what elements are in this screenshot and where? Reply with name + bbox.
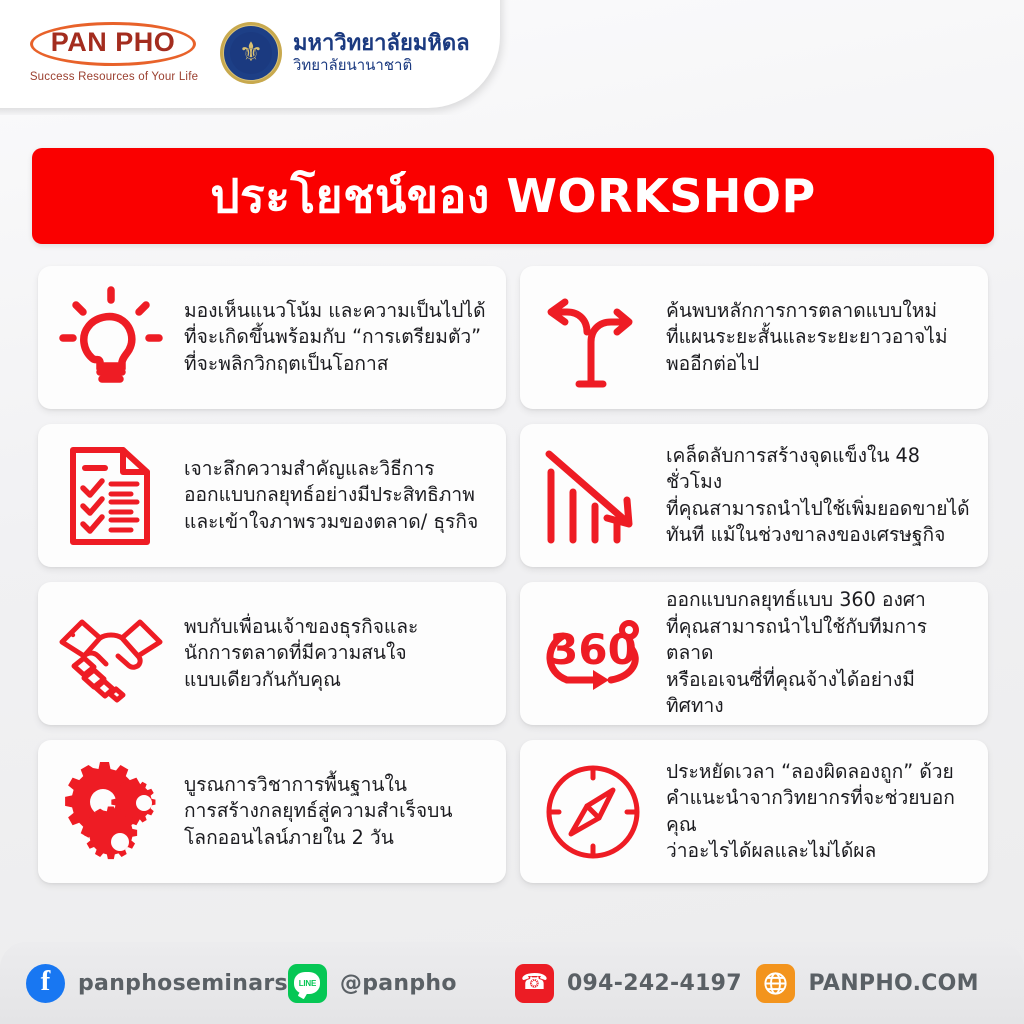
partner-logo: ⚜ มหาวิทยาลัยมหิดล วิทยาลัยนานาชาติ (220, 22, 470, 84)
benefit-card[interactable]: พบกับเพื่อนเจ้าของธุรกิจและ นักการตลาดที… (38, 582, 506, 725)
poster-root: PAN PHO Success Resources of Your Life ⚜… (0, 0, 1024, 1024)
partner-name-line1: มหาวิทยาลัยมหิดล (293, 31, 470, 56)
website-url: PANPHO.COM (808, 971, 978, 996)
benefit-text: ค้นพบหลักการการตลาดแบบใหม่ ที่แผนระยะสั้… (666, 298, 972, 378)
brand-tagline: Success Resources of Your Life (28, 71, 200, 83)
footer-line[interactable]: LINE @panpho (288, 964, 515, 1003)
360-degree-arrow-icon: 360 (534, 595, 652, 713)
declining-bar-chart-icon (534, 437, 652, 555)
footer-phone[interactable]: ☎ 094-242-4197 (515, 964, 757, 1003)
line-handle: @panpho (340, 971, 457, 996)
benefit-text: บูรณการวิชาการพื้นฐานใน การสร้างกลยุทธ์ส… (184, 772, 490, 852)
lightbulb-icon (52, 279, 170, 397)
benefit-text: เคล็ดลับการสร้างจุดแข็งใน 48 ชั่วโมง ที่… (666, 443, 972, 549)
footer-facebook[interactable]: f panphoseminars (26, 964, 288, 1003)
benefits-grid: มองเห็นแนวโน้ม และความเป็นไปได้ ที่จะเกิ… (38, 266, 988, 883)
facebook-handle: panphoseminars (78, 971, 288, 996)
gears-icon (52, 753, 170, 871)
compass-icon (534, 753, 652, 871)
title-banner: ประโยชน์ของ WORKSHOP (32, 148, 994, 244)
road-fork-arrows-icon (534, 279, 652, 397)
benefit-text: ออกแบบกลยุทธ์แบบ 360 องศา ที่คุณสามารถนำ… (666, 587, 972, 720)
benefit-card[interactable]: มองเห็นแนวโน้ม และความเป็นไปได้ ที่จะเกิ… (38, 266, 506, 409)
footer-contact-bar: f panphoseminars LINE @panpho ☎ 094-242-… (0, 942, 1024, 1024)
panpho-logo: PAN PHO Success Resources of Your Life (28, 16, 200, 90)
mahidol-seal-icon: ⚜ (220, 22, 282, 84)
benefit-card[interactable]: เจาะลึกความสำคัญและวิธีการ ออกแบบกลยุทธ์… (38, 424, 506, 567)
benefit-card[interactable]: บูรณการวิชาการพื้นฐานใน การสร้างกลยุทธ์ส… (38, 740, 506, 883)
line-glyph-label: LINE (299, 979, 316, 988)
header: PAN PHO Success Resources of Your Life ⚜… (0, 0, 1024, 115)
benefit-text: ประหยัดเวลา “ลองผิดลองถูก” ด้วย คำแนะนำจ… (666, 759, 972, 865)
benefit-card[interactable]: ประหยัดเวลา “ลองผิดลองถูก” ด้วย คำแนะนำจ… (520, 740, 988, 883)
globe-icon[interactable] (756, 964, 795, 1003)
line-icon[interactable]: LINE (288, 964, 327, 1003)
benefit-card[interactable]: ค้นพบหลักการการตลาดแบบใหม่ ที่แผนระยะสั้… (520, 266, 988, 409)
benefit-card[interactable]: เคล็ดลับการสร้างจุดแข็งใน 48 ชั่วโมง ที่… (520, 424, 988, 567)
footer-website[interactable]: PANPHO.COM (756, 964, 998, 1003)
partner-name-line2: วิทยาลัยนานาชาติ (293, 56, 470, 74)
benefit-card[interactable]: 360 ออกแบบกลยุทธ์แบบ 360 องศา ที่คุณสามา… (520, 582, 988, 725)
brand-name: PAN PHO (28, 27, 198, 58)
checklist-document-icon (52, 437, 170, 555)
benefit-text: พบกับเพื่อนเจ้าของธุรกิจและ นักการตลาดที… (184, 614, 490, 694)
phone-icon[interactable]: ☎ (515, 964, 554, 1003)
page-title: ประโยชน์ของ WORKSHOP (210, 160, 815, 233)
facebook-icon[interactable]: f (26, 964, 65, 1003)
handshake-icon (52, 595, 170, 713)
phone-number: 094-242-4197 (567, 971, 742, 996)
benefit-text: มองเห็นแนวโน้ม และความเป็นไปได้ ที่จะเกิ… (184, 298, 490, 378)
benefit-text: เจาะลึกความสำคัญและวิธีการ ออกแบบกลยุทธ์… (184, 456, 490, 536)
